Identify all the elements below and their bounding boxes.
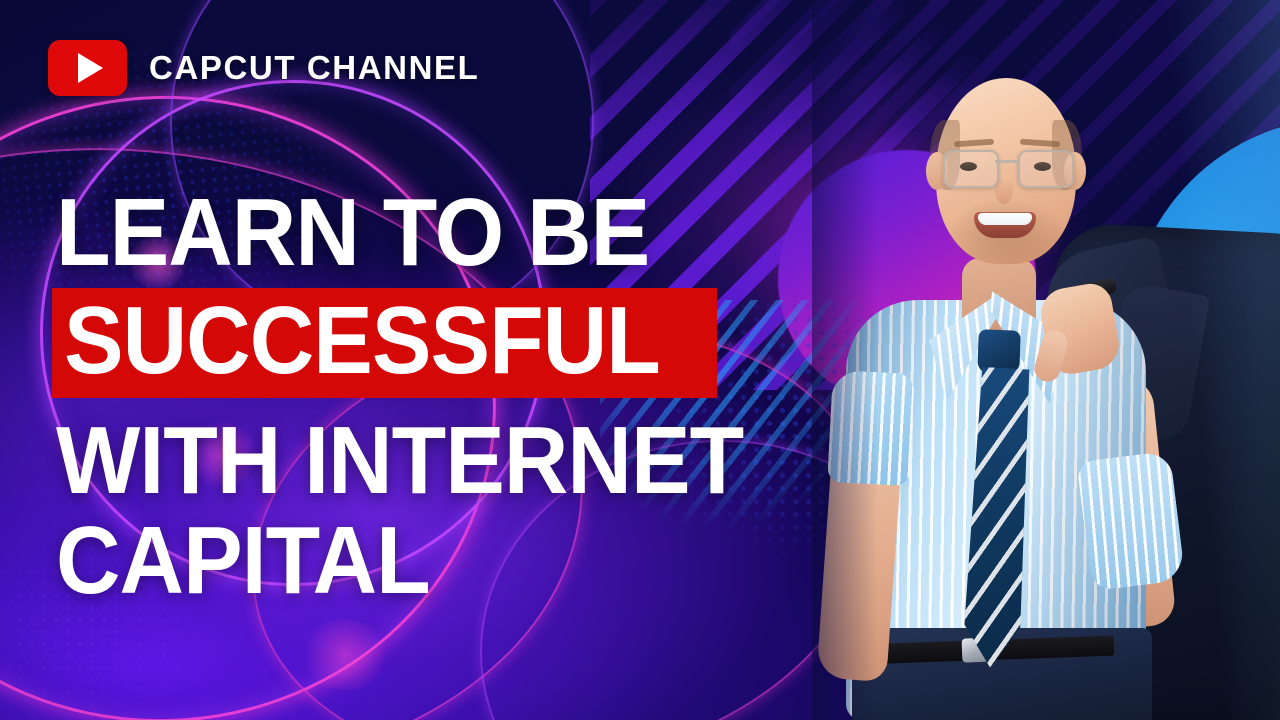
nose	[995, 178, 1013, 204]
presenter-photo	[812, 0, 1280, 720]
right-sleeve	[1076, 451, 1185, 591]
headline-line-1: LEARN TO BE	[56, 186, 800, 280]
headline-highlight-band: SUCCESSFUL	[52, 288, 717, 398]
youtube-logo-button[interactable]	[48, 40, 127, 96]
glasses-lens-right	[1018, 150, 1074, 188]
glasses-lens-left	[943, 150, 999, 188]
headline-line-2-highlighted: SUCCESSFUL	[64, 294, 660, 388]
channel-name: CAPCUT CHANNEL	[149, 49, 479, 87]
headline-line-3: WITH INTERNET	[56, 414, 800, 508]
glasses-bridge	[995, 160, 1018, 163]
teeth	[978, 213, 1032, 225]
headline-block: LEARN TO BE SUCCESSFUL WITH INTERNET CAP…	[56, 186, 856, 608]
thumbnail-canvas: CAPCUT CHANNEL LEARN TO BE SUCCESSFUL WI…	[0, 0, 1280, 720]
headline-line-4: CAPITAL	[56, 514, 800, 608]
channel-bar: CAPCUT CHANNEL	[48, 40, 479, 96]
play-icon	[78, 53, 103, 83]
ring-glow-spot	[300, 620, 390, 690]
